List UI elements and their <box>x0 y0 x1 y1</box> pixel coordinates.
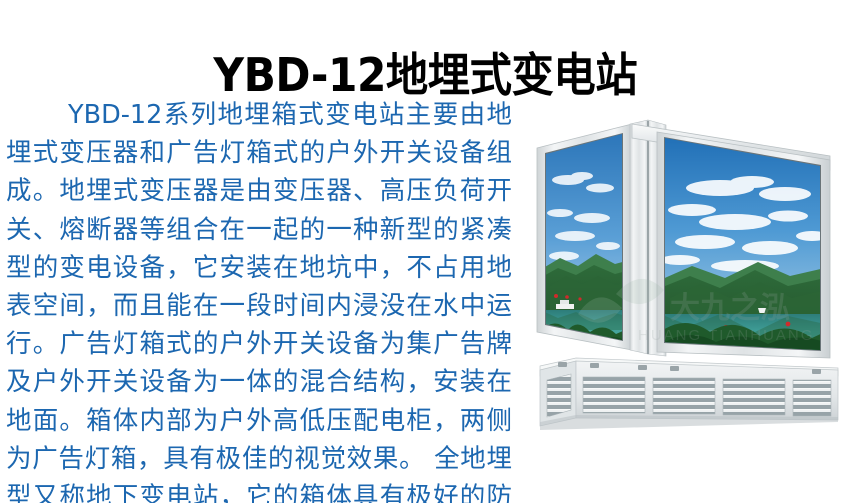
product-description-paragraph: YBD-12系列地埋箱式变电站主要由地埋式变压器和广告灯箱式的户外开关设备组成。… <box>6 96 512 503</box>
page-title: YBD-12地埋式变电站 <box>213 47 637 103</box>
cabinet-base <box>540 358 838 430</box>
vent-louvers-left <box>547 374 571 417</box>
substation-lightbox-illustration: 大九之泓 HUANG TIANHUANG <box>520 118 845 438</box>
vent-louvers-front <box>583 377 831 416</box>
watermark-cn-text: 大九之泓 <box>670 291 790 326</box>
watermark-en-text: HUANG TIANHUANG <box>638 327 814 344</box>
description-block: YBD-12系列地埋箱式变电站主要由地埋式变压器和广告灯箱式的户外开关设备组成。… <box>6 96 512 503</box>
product-info-page: YBD-12地埋式变电站 YBD-12系列地埋箱式变电站主要由地埋式变压器和广告… <box>0 0 850 503</box>
product-photo: 大九之泓 HUANG TIANHUANG <box>520 118 845 438</box>
